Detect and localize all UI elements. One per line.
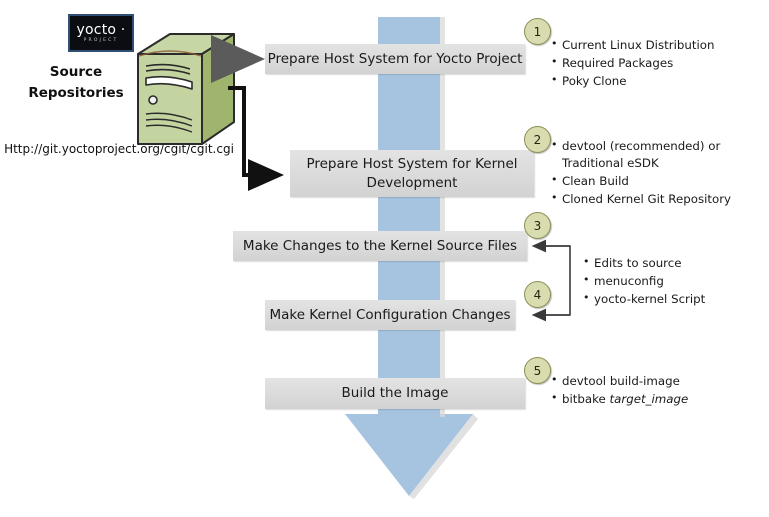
process-box-prepare-host-yocto[interactable]: Prepare Host System for Yocto Project (265, 44, 525, 74)
box-label: Make Changes to the Kernel Source Files (243, 237, 517, 255)
note-item: devtool (recommended) or Traditional eSD… (551, 138, 769, 172)
process-box-make-kernel-source-changes[interactable]: Make Changes to the Kernel Source Files (233, 231, 527, 261)
note-item: Required Packages (551, 55, 766, 72)
note-item: Clean Build (551, 173, 769, 190)
note-text: Clean Build (562, 174, 629, 188)
note-item: yocto-kernel Script (583, 291, 763, 308)
step-number-text: 5 (534, 364, 542, 378)
note-item: menuconfig (583, 273, 763, 290)
note-text: Poky Clone (562, 74, 627, 88)
box-label: Prepare Host System for Kernel Developme… (290, 155, 534, 191)
step-number-text: 2 (534, 133, 542, 147)
note-item: bitbake target_image (551, 391, 751, 408)
note-text: Current Linux Distribution (562, 38, 714, 52)
note-text: Edits to source (594, 256, 682, 270)
note-item: Edits to source (583, 255, 763, 272)
diagram-canvas: yocto · PROJECT Source Repositories Http… (0, 0, 769, 517)
step-number-text: 3 (534, 219, 542, 233)
step-number-3: 3 (524, 212, 551, 239)
step-number-text: 4 (534, 288, 542, 302)
note-text: menuconfig (594, 274, 664, 288)
note-item: Current Linux Distribution (551, 37, 766, 54)
step-2-notes: devtool (recommended) or Traditional eSD… (551, 138, 769, 209)
note-text: yocto-kernel Script (594, 292, 705, 306)
note-item: devtool build-image (551, 373, 751, 390)
step-5-notes: devtool build-image bitbake target_image (551, 373, 751, 409)
note-text-continued: Traditional eSDK (562, 155, 769, 172)
process-box-build-the-image[interactable]: Build the Image (265, 378, 525, 409)
note-item: Poky Clone (551, 73, 766, 90)
process-box-make-kernel-config-changes[interactable]: Make Kernel Configuration Changes (265, 300, 515, 330)
note-text: bitbake (562, 392, 610, 406)
note-text: Cloned Kernel Git Repository (562, 192, 731, 206)
note-text-emphasis: target_image (610, 392, 689, 406)
step-number-1: 1 (524, 18, 551, 45)
box-label: Prepare Host System for Yocto Project (268, 50, 523, 68)
step-number-text: 1 (534, 25, 542, 39)
step-number-5: 5 (524, 357, 551, 384)
step-number-4: 4 (524, 281, 551, 308)
note-text: Required Packages (562, 56, 673, 70)
process-box-prepare-host-kernel[interactable]: Prepare Host System for Kernel Developme… (290, 150, 534, 197)
note-text: devtool (recommended) or (562, 139, 720, 153)
step-1-notes: Current Linux Distribution Required Pack… (551, 37, 766, 91)
note-text: devtool build-image (562, 374, 680, 388)
steps-3-4-notes: Edits to source menuconfig yocto-kernel … (583, 255, 763, 309)
box-label: Build the Image (342, 384, 449, 402)
step-number-2: 2 (524, 126, 551, 153)
note-item: Cloned Kernel Git Repository (551, 191, 769, 208)
box-label: Make Kernel Configuration Changes (269, 306, 510, 324)
